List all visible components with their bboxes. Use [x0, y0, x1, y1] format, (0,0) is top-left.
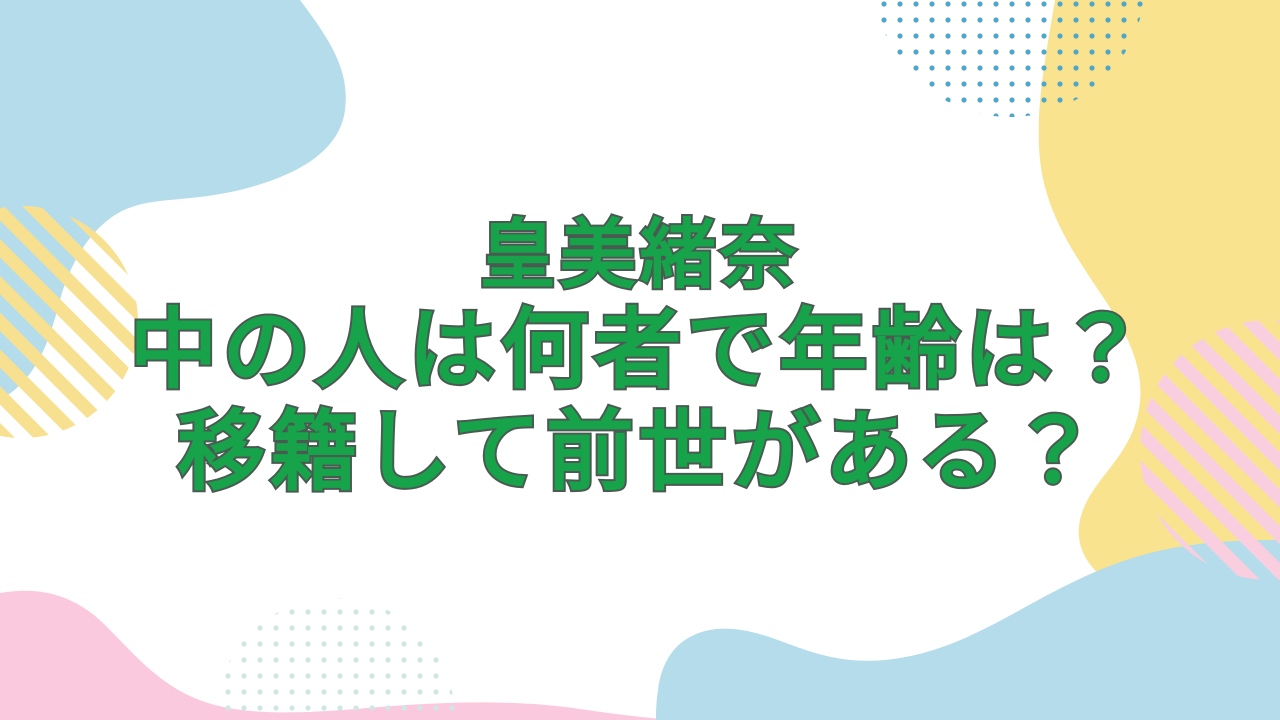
yellow-diagonal-stripes: [0, 180, 180, 480]
teal-dot-grid: [200, 590, 480, 720]
eyecatch-canvas: 皇美緒奈 中の人は何者で年齢は？ 移籍して前世がある？: [0, 0, 1280, 720]
blue-dot-grid: [860, 0, 1170, 150]
pattern-decoration-layer: [0, 0, 1280, 720]
pink-diagonal-stripes: [1120, 300, 1280, 610]
